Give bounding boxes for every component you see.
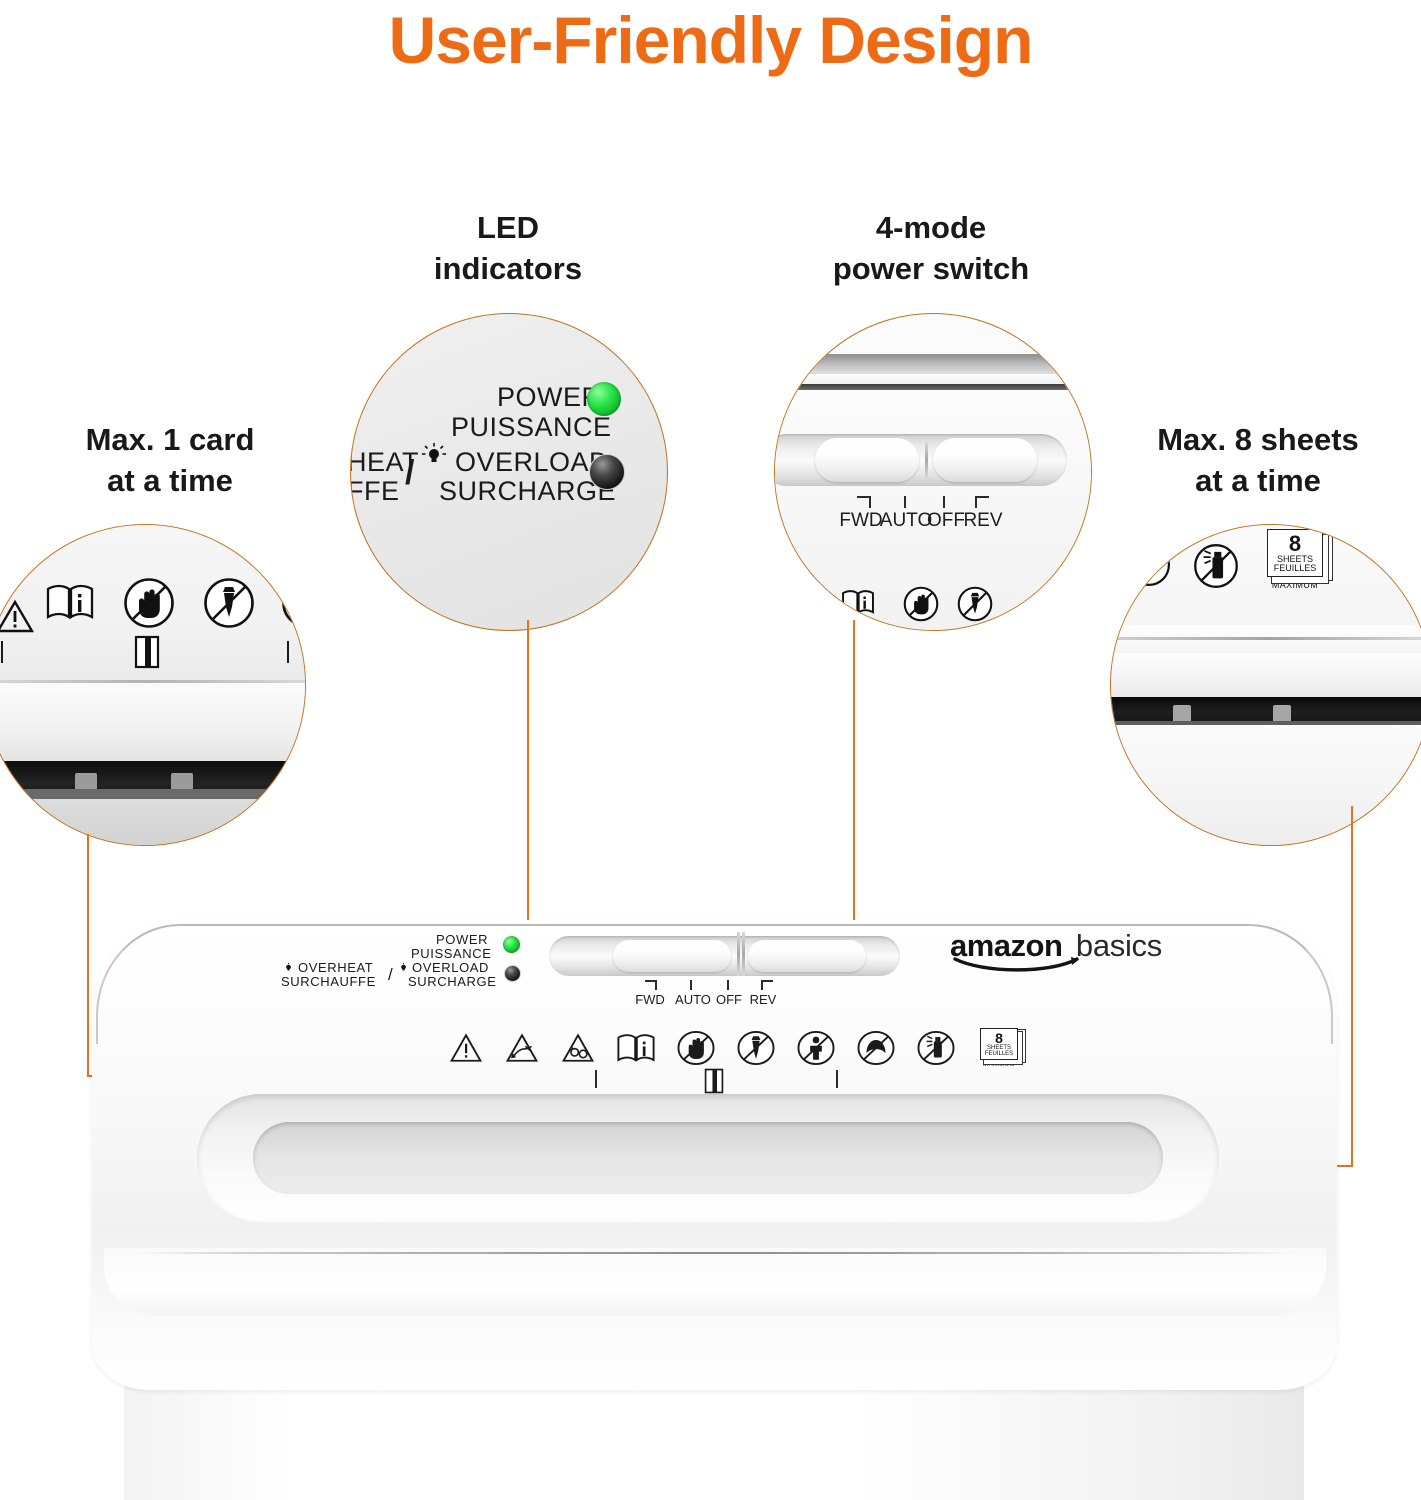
magnifier-led-indicators: POWER PUISSANCE HEAT FFE / OVERLOAD SURC… [350, 313, 668, 631]
page-title: User-Friendly Design [0, 2, 1421, 78]
callout-label-sheets-line2: at a time [1098, 461, 1418, 502]
no-children-icon [281, 577, 306, 629]
magnifier-sheet-slot: 8 SHEETS FEUILLES MAXIMUM [1110, 524, 1421, 846]
warning-cut-hazard-icon [504, 1031, 540, 1065]
overheat-label-fr: SURCHAUFFE [281, 974, 376, 989]
shredder-head-lower-lip [104, 1248, 1326, 1316]
zoom-overload-fr: SURCHARGE [439, 476, 616, 507]
zoom-slider-rib [925, 442, 928, 478]
sheet-capacity-badge: 8 SHEETS FEUILLES MAXIMUM [1267, 529, 1331, 590]
magnifier-power-switch: FWD AUTO OFF REV [774, 313, 1092, 631]
paper-feed-slot-recess [197, 1094, 1219, 1222]
zoom-overload-en: OVERLOAD [455, 447, 609, 478]
no-hand-icon [676, 1029, 716, 1067]
magnifier-led-content: POWER PUISSANCE HEAT FFE / OVERLOAD SURC… [351, 314, 667, 630]
power-led [503, 936, 520, 953]
no-necktie-icon [203, 577, 255, 629]
no-long-hair-icon [1127, 543, 1171, 587]
read-manual-icon [841, 586, 875, 618]
safety-icon-row: 8 SHEETS FEUILLES MAXIMUM [448, 1028, 1024, 1068]
overload-label-en: OVERLOAD [412, 960, 489, 975]
power-mode-rev: REV [739, 992, 787, 1007]
paper-feed-slot [253, 1122, 1163, 1194]
zoom-overload-led [589, 454, 625, 490]
shredder-head-seam [120, 1252, 1310, 1254]
callout-label-switch: 4-mode power switch [772, 208, 1090, 290]
zoom-power-fr: PUISSANCE [451, 412, 612, 443]
zoom-slider-knob-right[interactable] [933, 438, 1037, 482]
sheet-count: 8 [995, 1031, 1003, 1045]
power-switch-knob-left[interactable] [613, 940, 731, 972]
zoom-slider-knob-left[interactable] [815, 438, 919, 482]
power-mode-fwd: FWD [626, 992, 674, 1007]
callout-label-sheets-line1: Max. 8 sheets [1098, 420, 1418, 461]
callout-label-card: Max. 1 card at a time [10, 420, 330, 502]
callout-label-switch-line1: 4-mode [772, 208, 1090, 249]
bulb-icon [283, 962, 294, 973]
warning-exclamation-icon [448, 1031, 484, 1065]
overload-label-fr: SURCHARGE [408, 974, 496, 989]
sheet-capacity-badge: 8 SHEETS FEUILLES MAXIMUM [980, 1028, 1024, 1068]
warning-roller-hazard-icon [560, 1031, 596, 1065]
zoom-separator: / [405, 454, 414, 493]
power-switch-knob-right[interactable] [748, 940, 866, 972]
warning-exclamation-icon [0, 597, 35, 637]
amazon-smile-icon [953, 956, 1081, 973]
overload-led [504, 965, 521, 982]
no-children-icon [796, 1029, 836, 1067]
icon-tick-right [836, 1070, 838, 1088]
callout-label-card-line2: at a time [10, 461, 330, 502]
no-hand-icon [903, 586, 939, 622]
no-aerosol-spray-icon [916, 1029, 956, 1067]
sheet-count: 8 [1289, 533, 1301, 555]
callout-label-card-line1: Max. 1 card [10, 420, 330, 461]
credit-card-icon [134, 635, 160, 669]
icon-tick-left [595, 1070, 597, 1088]
sheet-sheets-fr: FEUILLES [1274, 564, 1317, 573]
callout-label-switch-line2: power switch [772, 249, 1090, 290]
magnifier-card-slot-content [0, 525, 305, 845]
zoom-power-led [587, 382, 621, 416]
product-image-shredder: POWER PUISSANCE OVERHEAT SURCHAUFFE / OV… [0, 880, 1421, 1500]
power-label-en: POWER [436, 932, 488, 947]
power-switch-rib [737, 932, 740, 976]
zoom-power-en: POWER [497, 382, 602, 413]
callout-label-sheets: Max. 8 sheets at a time [1098, 420, 1418, 502]
no-necktie-icon [736, 1029, 776, 1067]
callout-label-led: LED indicators [350, 208, 666, 290]
magnifier-switch-content: FWD AUTO OFF REV [775, 314, 1091, 630]
brand-logo: amazon basics [950, 928, 1162, 964]
callout-label-led-line1: LED [350, 208, 666, 249]
bulb-icon [421, 442, 447, 468]
zoom-overheat-fr-clipped: FFE [350, 476, 400, 507]
brand-basics: basics [1076, 928, 1162, 963]
callout-label-led-line2: indicators [350, 249, 666, 290]
power-switch-rib-2 [742, 932, 745, 976]
no-long-hair-icon [856, 1029, 896, 1067]
magnifier-sheet-content: 8 SHEETS FEUILLES MAXIMUM [1111, 525, 1421, 845]
read-manual-icon [616, 1031, 656, 1065]
zoom-mode-rev: REV [955, 510, 1011, 532]
no-hand-icon [123, 577, 175, 629]
bulb-icon [398, 962, 409, 973]
no-aerosol-spray-icon [1193, 543, 1239, 589]
credit-card-icon [704, 1068, 724, 1094]
no-necktie-icon [957, 586, 993, 622]
led-separator: / [388, 965, 393, 985]
overheat-label-en: OVERHEAT [298, 960, 373, 975]
sheet-sheets-fr: FEUILLES [985, 1051, 1013, 1057]
magnifier-card-slot [0, 524, 306, 846]
power-label-fr: PUISSANCE [411, 946, 492, 961]
read-manual-icon [45, 581, 95, 623]
